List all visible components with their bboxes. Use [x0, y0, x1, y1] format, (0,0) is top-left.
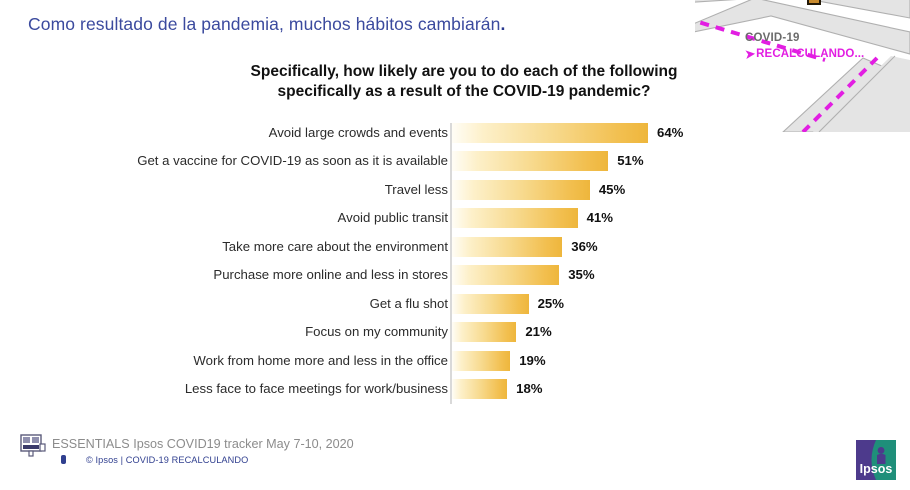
bar-value-label: 25% — [538, 296, 564, 311]
bar-fill — [452, 237, 562, 257]
bar-row: Take more care about the environment36% — [0, 236, 910, 265]
bar-category-label: Focus on my community — [28, 324, 448, 339]
bar-category-label: Avoid public transit — [28, 210, 448, 225]
chart-title-line-1: Specifically, how likely are you to do e… — [123, 62, 805, 82]
bar-row: Avoid large crowds and events64% — [0, 122, 910, 151]
bar-value-label: 45% — [599, 182, 625, 197]
page-title: Como resultado de la pandemia, muchos há… — [28, 14, 505, 35]
bar-category-label: Get a flu shot — [28, 296, 448, 311]
bar-fill — [452, 294, 529, 314]
recalculating-text: RECALCULANDO... — [756, 48, 864, 60]
bar-category-label: Take more care about the environment — [28, 239, 448, 254]
essentials-logo-icon — [20, 434, 46, 458]
bar-value-label: 51% — [617, 153, 643, 168]
covid-19-label: COVID-19 — [745, 31, 800, 45]
page-title-text: Como resultado de la pandemia, muchos há… — [28, 14, 500, 34]
bar-fill — [452, 180, 590, 200]
bar-category-label: Purchase more online and less in stores — [28, 267, 448, 282]
bar-fill — [452, 151, 608, 171]
bar-track — [452, 208, 578, 228]
chart-title-line-2: specifically as a result of the COVID-19… — [123, 82, 805, 102]
bar-track — [452, 351, 510, 371]
bar-track — [452, 237, 562, 257]
bar-row: Less face to face meetings for work/busi… — [0, 378, 910, 407]
bar-value-label: 35% — [568, 267, 594, 282]
footer-bullet-icon — [61, 455, 66, 464]
bar-row: Get a vaccine for COVID-19 as soon as it… — [0, 150, 910, 179]
slide-footer: ESSENTIALS Ipsos COVID19 tracker May 7-1… — [0, 428, 910, 490]
bar-fill — [452, 379, 507, 399]
svg-text:Ipsos: Ipsos — [860, 462, 893, 476]
footer-copyright-text: © Ipsos | COVID-19 RECALCULANDO — [86, 455, 248, 465]
bar-value-label: 19% — [519, 353, 545, 368]
bar-track — [452, 151, 608, 171]
bar-track — [452, 180, 590, 200]
bar-row: Focus on my community21% — [0, 321, 910, 350]
bar-track — [452, 379, 507, 399]
ipsos-logo: Ipsos — [854, 438, 898, 482]
bar-category-label: Work from home more and less in the offi… — [28, 353, 448, 368]
bar-value-label: 41% — [587, 210, 613, 225]
bar-fill — [452, 322, 516, 342]
bar-value-label: 21% — [525, 324, 551, 339]
bar-chart-plot: Avoid large crowds and events64%Get a va… — [0, 122, 910, 407]
bar-category-label: Avoid large crowds and events — [28, 125, 448, 140]
bar-rows: Avoid large crowds and events64%Get a va… — [0, 122, 910, 407]
bar-track — [452, 265, 559, 285]
chart-container: Specifically, how likely are you to do e… — [0, 62, 910, 407]
bar-category-label: Less face to face meetings for work/busi… — [28, 381, 448, 396]
bar-row: Travel less45% — [0, 179, 910, 208]
bar-value-label: 64% — [657, 125, 683, 140]
cursor-arrow-icon: ➤ — [744, 47, 756, 62]
bar-category-label: Travel less — [28, 182, 448, 197]
bar-fill — [452, 265, 559, 285]
bar-row: Purchase more online and less in stores3… — [0, 264, 910, 293]
bar-row: Get a flu shot25% — [0, 293, 910, 322]
bar-row: Work from home more and less in the offi… — [0, 350, 910, 379]
footer-source-text: ESSENTIALS Ipsos COVID19 tracker May 7-1… — [52, 437, 354, 451]
bar-fill — [452, 208, 578, 228]
bar-track — [452, 123, 648, 143]
bar-category-label: Get a vaccine for COVID-19 as soon as it… — [28, 153, 448, 168]
bar-value-label: 36% — [571, 239, 597, 254]
recalculating-label: ➤RECALCULANDO... — [745, 46, 864, 60]
bar-value-label: 18% — [516, 381, 542, 396]
bar-fill — [452, 123, 648, 143]
bar-fill — [452, 351, 510, 371]
bar-track — [452, 322, 516, 342]
bar-track — [452, 294, 529, 314]
page-title-period: . — [500, 14, 505, 34]
bar-row: Avoid public transit41% — [0, 207, 910, 236]
chart-title: Specifically, how likely are you to do e… — [105, 62, 805, 103]
